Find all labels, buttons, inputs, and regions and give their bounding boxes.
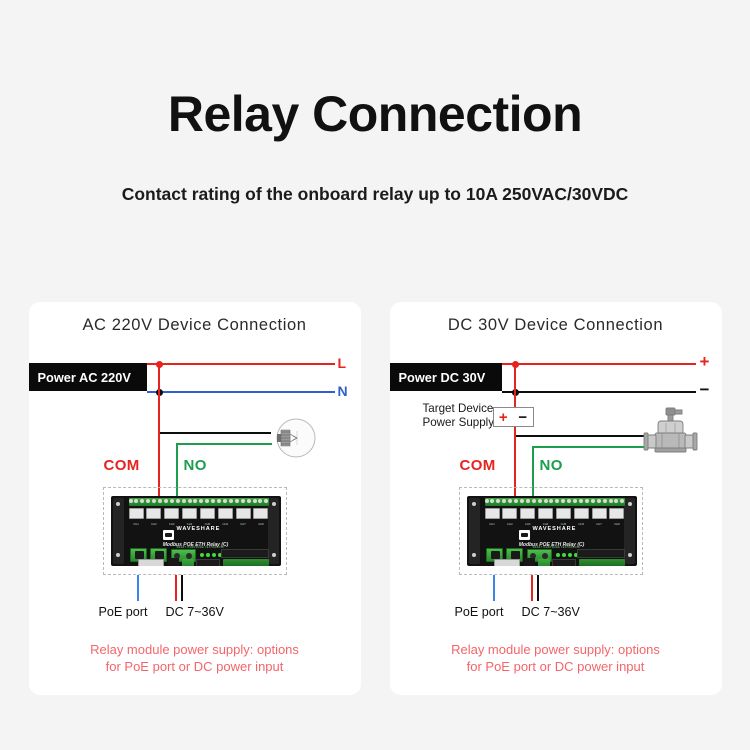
waveshare-logo: WAVESHARE SMART HARDWARE TECHNOLOGY: [163, 529, 233, 540]
ac-live-wire: [147, 363, 335, 365]
dc-power-source-label: Power DC 30V: [390, 363, 502, 391]
polarity-plus: +: [499, 410, 508, 425]
dc-dc-leader-line-black: [537, 575, 540, 601]
page-subtitle: Contact rating of the onboard relay up t…: [0, 141, 750, 205]
dc-terminal-minus: −: [700, 380, 710, 400]
dc-connection-card: DC 30V Device Connection Power DC 30V + …: [390, 302, 722, 695]
ac-legend-poe: PoE port: [99, 605, 148, 619]
channel-label: CH7: [236, 521, 251, 528]
relay-terminal-screws: [129, 499, 269, 505]
dc-positive-wire: [502, 363, 696, 365]
dc-poe-leader-line: [493, 575, 495, 601]
board-screw-hole: [628, 502, 632, 506]
polarity-minus: −: [518, 410, 527, 425]
power-jack: [168, 558, 179, 566]
channel-label: CH8: [609, 521, 624, 528]
channel-label: CH8: [253, 521, 268, 528]
board-screw-hole: [116, 553, 120, 557]
dc-supply-polarity-box: + −: [493, 407, 534, 427]
relay-terminal-screws: [485, 499, 625, 505]
board-screw-hole: [272, 502, 276, 506]
dc-power-terminal: [182, 559, 194, 566]
dc-power-terminal: [538, 559, 550, 566]
board-screw-hole: [472, 502, 476, 506]
ic-chip-block: [577, 549, 625, 558]
waveshare-logo-mark: [519, 530, 530, 540]
usb-connector: [138, 559, 164, 566]
io-terminal-block: [579, 559, 625, 566]
channel-label: CH1: [129, 521, 144, 528]
io-terminal-block: [223, 559, 269, 566]
status-led-group: [200, 553, 222, 557]
usb-connector: [494, 559, 520, 566]
ac-dc-leader-line-red: [175, 575, 177, 601]
ac-relay-module-outline: CH1 CH2 CH3 CH4 CH5 CH6 CH7 CH8 WAVESHAR…: [103, 487, 287, 575]
ac-label-no: NO: [184, 457, 207, 474]
board-screw-hole: [116, 502, 120, 506]
ac-poe-leader-line: [137, 575, 139, 601]
board-screw-hole: [472, 553, 476, 557]
ac-legend-dc: DC 7~36V: [166, 605, 224, 619]
ac-power-source-label: Power AC 220V: [29, 363, 147, 391]
dc-load-wire-horizontal: [514, 435, 646, 437]
board-screw-hole: [272, 553, 276, 557]
channel-label: CH2: [502, 521, 517, 528]
dc-legend-dc: DC 7~36V: [522, 605, 580, 619]
ac-card-title: AC 220V Device Connection: [29, 316, 361, 335]
dc-card-title: DC 30V Device Connection: [390, 316, 722, 335]
waveshare-logo-text: WAVESHARE: [177, 526, 221, 532]
dc-label-com: COM: [460, 457, 496, 474]
dc-terminal-plus: +: [700, 352, 710, 372]
light-bulb-icon: [257, 415, 319, 461]
ac-neutral-wire: [147, 391, 335, 393]
dc-negative-wire: [502, 391, 696, 393]
power-jack: [524, 558, 535, 566]
channel-label: CH1: [485, 521, 500, 528]
board-screw-hole: [628, 553, 632, 557]
ac-power-note: Relay module power supply: options for P…: [29, 641, 361, 676]
dip-switch-block: [552, 559, 576, 566]
dc-no-wire-horizontal: [532, 446, 646, 448]
ac-terminal-N: N: [338, 383, 348, 399]
ic-chip-block: [221, 549, 269, 558]
dc-power-note: Relay module power supply: options for P…: [390, 641, 722, 676]
waveshare-logo-mark: [163, 530, 174, 540]
ac-load-wire-horizontal: [158, 432, 271, 434]
dc-target-supply-label: Target Device Power Supply: [423, 402, 495, 431]
solenoid-valve-icon: [642, 405, 700, 461]
channel-label: CH2: [146, 521, 161, 528]
waveshare-logo: WAVESHARE SMART HARDWARE TECHNOLOGY: [519, 529, 589, 540]
relay-module-board: CH1 CH2 CH3 CH4 CH5 CH6 CH7 CH8 WAVESHAR…: [467, 496, 637, 566]
ac-connection-card: AC 220V Device Connection Power AC 220V …: [29, 302, 361, 695]
status-led-group: [556, 553, 578, 557]
dc-legend-poe: PoE port: [455, 605, 504, 619]
dc-dc-leader-line-red: [531, 575, 533, 601]
dc-relay-module-outline: CH1 CH2 CH3 CH4 CH5 CH6 CH7 CH8 WAVESHAR…: [459, 487, 643, 575]
relay-module-board: CH1 CH2 CH3 CH4 CH5 CH6 CH7 CH8 WAVESHAR…: [111, 496, 281, 566]
ac-terminal-L: L: [338, 355, 347, 371]
page-header: Relay Connection Contact rating of the o…: [0, 0, 750, 205]
ac-dc-leader-line-black: [181, 575, 184, 601]
ac-label-com: COM: [104, 457, 140, 474]
channel-label: CH7: [592, 521, 607, 528]
diagram-cards: AC 220V Device Connection Power AC 220V …: [0, 302, 750, 695]
dip-switch-block: [196, 559, 220, 566]
dc-label-no: NO: [540, 457, 563, 474]
waveshare-logo-text: WAVESHARE: [533, 526, 577, 532]
page-title: Relay Connection: [0, 88, 750, 141]
